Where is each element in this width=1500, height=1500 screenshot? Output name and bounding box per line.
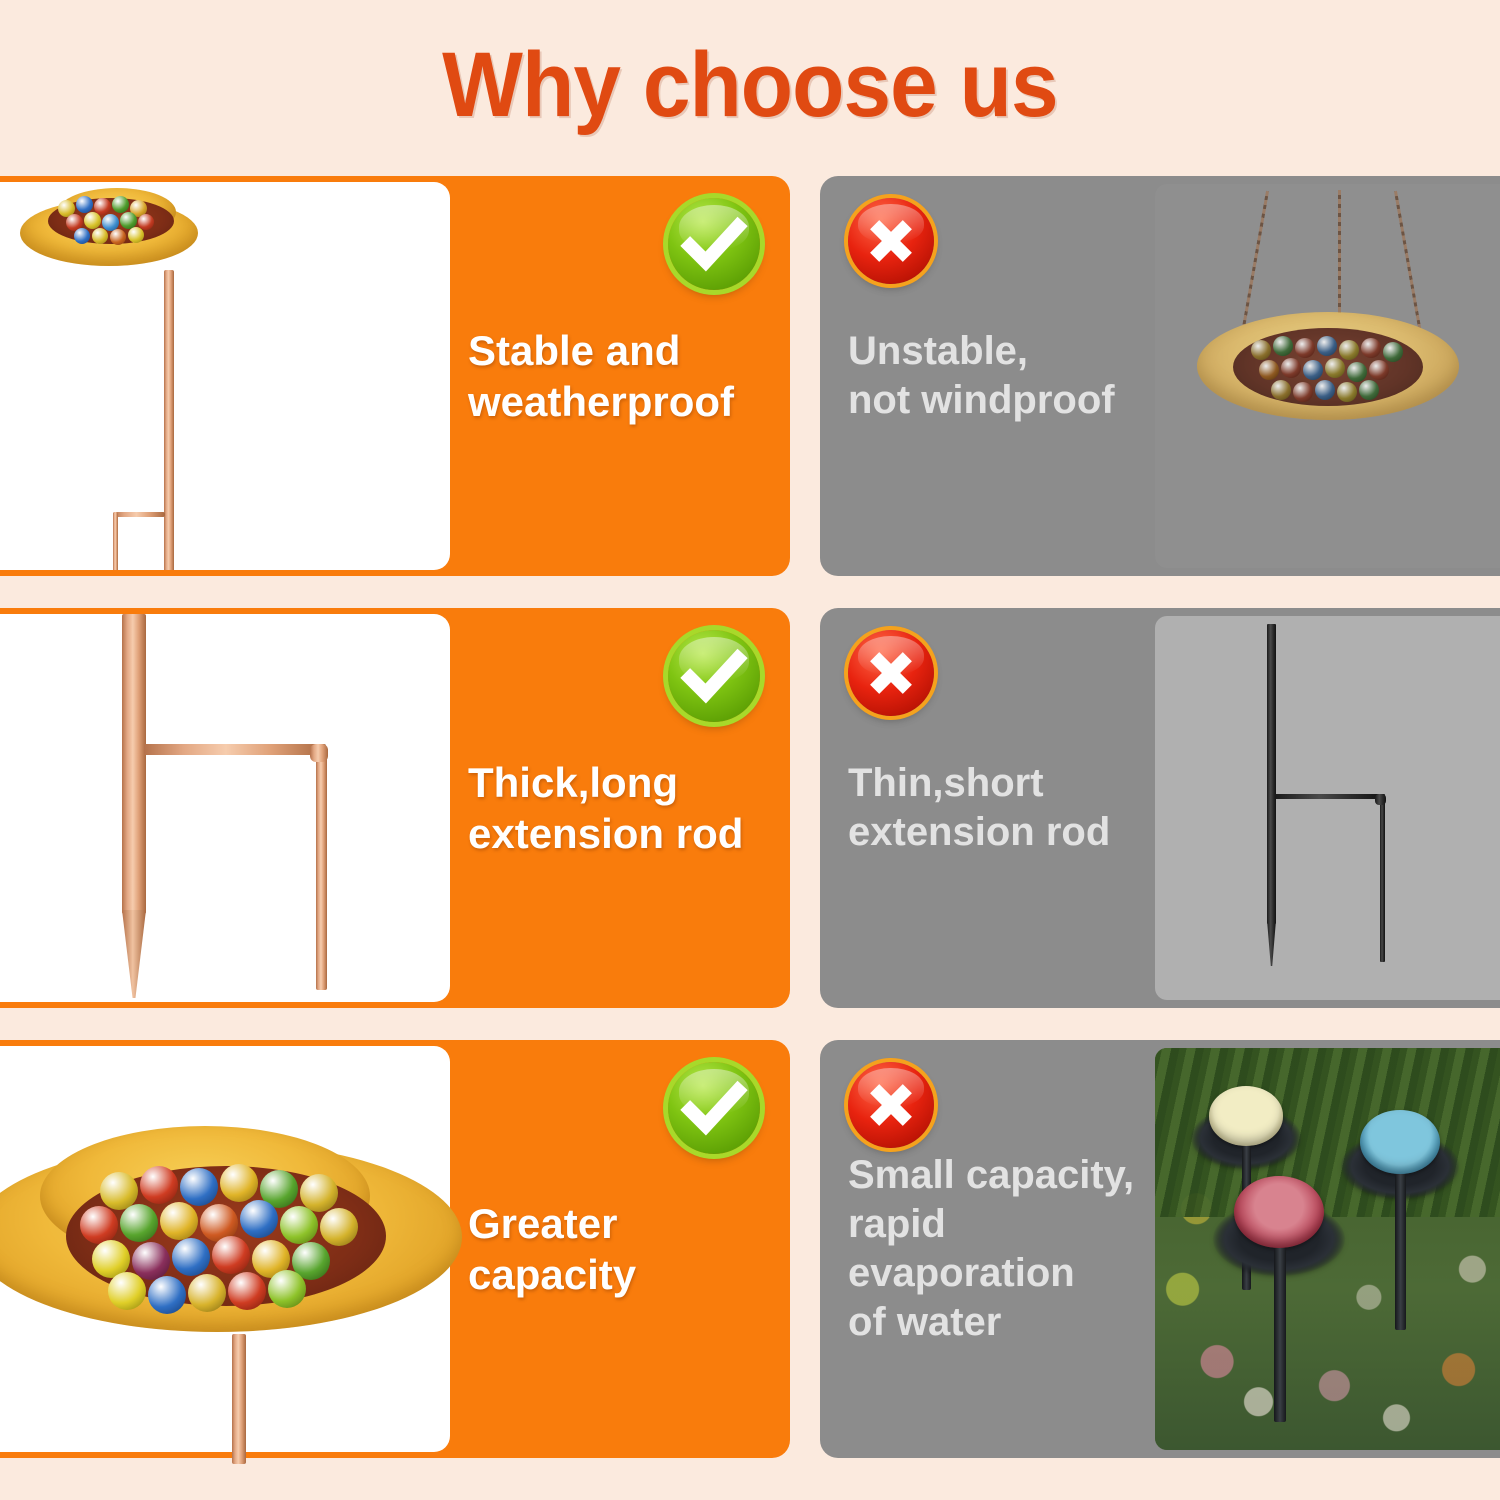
pro-label-2: Thick,long extension rod [468,757,743,859]
con-text-3: Small capacity, rapid evaporation of wat… [848,1040,1148,1458]
con-image-3 [1155,1048,1500,1450]
con-panel-2: Thin,short extension rod [820,608,1500,1008]
page-title: Why choose us [442,39,1057,131]
comparison-row-2: Thick,long extension rod Thin,short exte… [0,608,1500,1008]
comparison-row-1: Stable and weatherproof Unstable, not wi… [0,176,1500,576]
con-label-2: Thin,short extension rod [848,759,1110,857]
check-icon [668,630,760,722]
page-header: Why choose us [0,0,1500,170]
con-text-2: Thin,short extension rod [848,608,1148,1008]
check-icon [668,198,760,290]
con-label-3: Small capacity, rapid evaporation of wat… [848,1151,1134,1346]
bowl-stake-blue [1341,1110,1459,1214]
pro-image-2 [0,614,450,1002]
pro-label-3: Greater capacity [468,1198,636,1300]
bowl-stake-red [1213,1176,1345,1292]
con-panel-3: Small capacity, rapid evaporation of wat… [820,1040,1500,1458]
pro-panel-2: Thick,long extension rod [0,608,790,1008]
check-icon [668,1062,760,1154]
pro-image-1 [0,182,450,570]
pro-image-3 [0,1046,450,1452]
pro-panel-1: Stable and weatherproof [0,176,790,576]
con-image-1 [1155,184,1500,568]
con-text-1: Unstable, not windproof [848,176,1148,576]
pro-label-1: Stable and weatherproof [468,325,734,427]
con-image-2 [1155,616,1500,1000]
pro-panel-3: Greater capacity [0,1040,790,1458]
comparison-row-3: Greater capacity Small capacity, rapid e… [0,1040,1500,1458]
con-panel-1: Unstable, not windproof [820,176,1500,576]
bowl-stake-cream [1191,1086,1301,1182]
con-label-1: Unstable, not windproof [848,327,1115,425]
